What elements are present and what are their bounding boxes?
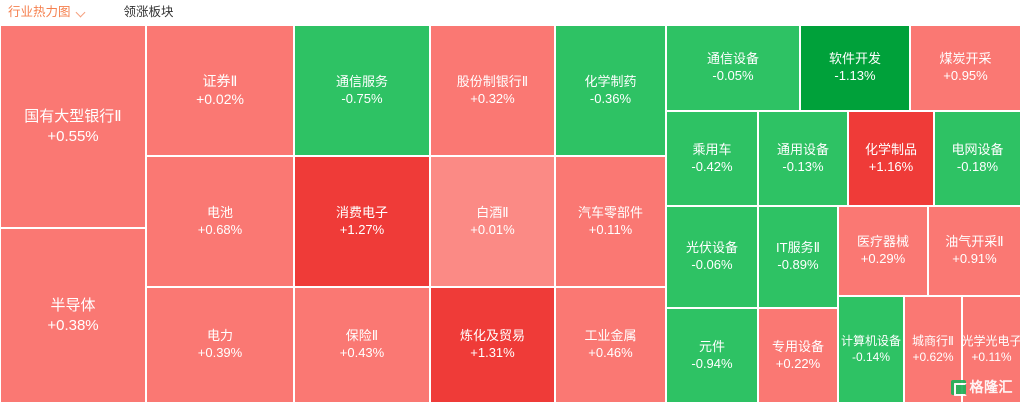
treemap-cell-name: 保险Ⅱ <box>346 328 378 345</box>
treemap-cell-name: 股份制银行Ⅱ <box>457 74 528 91</box>
treemap-cell-name: 煤炭开采 <box>939 51 991 68</box>
treemap-cell[interactable]: 电网设备-0.18% <box>934 111 1021 206</box>
industry-heatmap-widget: 行业热力图 领涨板块 国有大型银行Ⅱ+0.55%半导体+0.38%证券Ⅱ+0.0… <box>0 0 1021 403</box>
treemap-cell[interactable]: 化学制药-0.36% <box>555 25 666 156</box>
widget-header: 行业热力图 领涨板块 <box>0 0 1021 25</box>
treemap-cell[interactable]: 乘用车-0.42% <box>666 111 758 206</box>
treemap-cell-value: +0.39% <box>198 345 242 362</box>
treemap-cell[interactable]: 元件-0.94% <box>666 308 758 403</box>
treemap-cell[interactable]: 半导体+0.38% <box>0 228 146 403</box>
treemap-cell[interactable]: 医疗器械+0.29% <box>838 206 928 296</box>
treemap-cell[interactable]: 煤炭开采+0.95% <box>910 25 1021 111</box>
treemap-cell-name: 半导体 <box>50 296 95 315</box>
treemap-cell-value: -0.36% <box>590 91 631 108</box>
treemap-cell[interactable]: 工业金属+0.46% <box>555 287 666 403</box>
treemap-cell-value: +1.27% <box>340 222 384 239</box>
treemap-cell-name: 电网设备 <box>951 142 1003 159</box>
treemap-cell[interactable]: 光学光电子+0.11% <box>962 296 1021 403</box>
treemap-cell[interactable]: 电池+0.68% <box>146 156 294 287</box>
treemap-cell-value: -0.05% <box>712 68 753 85</box>
treemap-cell[interactable]: 城商行Ⅱ+0.62% <box>904 296 962 403</box>
treemap-cell-value: +0.38% <box>47 316 98 335</box>
treemap-cell-name: 消费电子 <box>336 205 388 222</box>
treemap-cell-name: 汽车零部件 <box>578 205 643 222</box>
treemap-cell[interactable]: 炼化及贸易+1.31% <box>430 287 555 403</box>
treemap-cell-value: +0.68% <box>198 222 242 239</box>
treemap-cell[interactable]: 消费电子+1.27% <box>294 156 430 287</box>
treemap-cell-name: IT服务Ⅱ <box>776 240 820 257</box>
treemap-cell-value: +0.11% <box>971 350 1011 365</box>
treemap-cell[interactable]: 油气开采Ⅱ+0.91% <box>928 206 1021 296</box>
treemap-cell-value: +0.22% <box>776 356 820 373</box>
treemap-cell-value: +0.55% <box>47 127 98 146</box>
treemap-cell-name: 医疗器械 <box>857 234 909 251</box>
treemap-cell-name: 乘用车 <box>692 142 731 159</box>
treemap-cell-value: +0.43% <box>340 345 384 362</box>
treemap-cell[interactable]: 国有大型银行Ⅱ+0.55% <box>0 25 146 228</box>
treemap-cell-value: +0.32% <box>470 91 514 108</box>
treemap-cell-value: +1.31% <box>470 345 514 362</box>
treemap-cell-name: 通用设备 <box>777 142 829 159</box>
treemap-cell-value: -0.06% <box>691 257 732 274</box>
treemap-cell-value: +0.02% <box>196 91 244 109</box>
treemap-cell[interactable]: 通信设备-0.05% <box>666 25 800 111</box>
tab-industry-heatmap[interactable]: 行业热力图 <box>8 6 86 19</box>
treemap-cell[interactable]: 股份制银行Ⅱ+0.32% <box>430 25 555 156</box>
treemap-cell-value: -0.75% <box>341 91 382 108</box>
treemap-cell-value: -0.14% <box>852 350 890 365</box>
treemap-cell[interactable]: 通用设备-0.13% <box>758 111 848 206</box>
treemap-cell-name: 通信服务 <box>336 74 388 91</box>
treemap-cell-value: -0.89% <box>777 257 818 274</box>
treemap-cell-name: 油气开采Ⅱ <box>945 234 1003 251</box>
treemap-cell[interactable]: 通信服务-0.75% <box>294 25 430 156</box>
treemap-cell[interactable]: IT服务Ⅱ-0.89% <box>758 206 838 308</box>
treemap-cell-value: +0.29% <box>861 251 905 268</box>
treemap-cell-name: 专用设备 <box>772 339 824 356</box>
tab-leading-sectors[interactable]: 领涨板块 <box>124 6 174 19</box>
treemap-cell-value: +0.95% <box>943 68 987 85</box>
treemap-cell-value: +0.11% <box>589 222 633 239</box>
treemap-cell-name: 电池 <box>207 205 233 222</box>
treemap-cell[interactable]: 汽车零部件+0.11% <box>555 156 666 287</box>
treemap-cell-value: -0.94% <box>691 356 732 373</box>
treemap-cell-value: -1.13% <box>834 68 875 85</box>
treemap-cell-name: 证券Ⅱ <box>203 73 238 91</box>
treemap-cell-name: 国有大型银行Ⅱ <box>24 107 121 126</box>
treemap-cell[interactable]: 光伏设备-0.06% <box>666 206 758 308</box>
treemap-cell-value: -0.13% <box>782 159 823 176</box>
treemap-cell[interactable]: 保险Ⅱ+0.43% <box>294 287 430 403</box>
treemap-cell-value: +0.62% <box>912 350 953 365</box>
treemap-cell[interactable]: 证券Ⅱ+0.02% <box>146 25 294 156</box>
treemap-cell-name: 化学制药 <box>584 74 636 91</box>
treemap-cell[interactable]: 软件开发-1.13% <box>800 25 910 111</box>
treemap-cell[interactable]: 电力+0.39% <box>146 287 294 403</box>
treemap-cell-value: +0.46% <box>588 345 632 362</box>
treemap-cell-value: -0.42% <box>691 159 732 176</box>
treemap-cell-name: 白酒Ⅱ <box>476 205 508 222</box>
treemap-cell-value: +1.16% <box>869 159 913 176</box>
treemap-cell-name: 工业金属 <box>584 328 636 345</box>
treemap-cell-name: 炼化及贸易 <box>460 328 525 345</box>
treemap-cell-name: 城商行Ⅱ <box>912 334 954 349</box>
treemap-cell-name: 软件开发 <box>829 51 881 68</box>
treemap-cell-name: 计算机设备 <box>841 334 901 349</box>
treemap-cell[interactable]: 专用设备+0.22% <box>758 308 838 403</box>
treemap-cell-name: 电力 <box>207 328 233 345</box>
treemap-cell[interactable]: 白酒Ⅱ+0.01% <box>430 156 555 287</box>
chevron-down-icon[interactable] <box>77 8 86 17</box>
treemap-cell-value: -0.18% <box>957 159 998 176</box>
treemap-cell[interactable]: 计算机设备-0.14% <box>838 296 904 403</box>
treemap-cell[interactable]: 化学制品+1.16% <box>848 111 934 206</box>
treemap-cell-name: 光学光电子 <box>962 334 1021 349</box>
tab-industry-heatmap-label: 行业热力图 <box>8 6 71 19</box>
treemap-cell-value: +0.01% <box>470 222 514 239</box>
treemap-canvas: 国有大型银行Ⅱ+0.55%半导体+0.38%证券Ⅱ+0.02%电池+0.68%电… <box>0 25 1021 403</box>
treemap-cell-name: 化学制品 <box>865 142 917 159</box>
treemap-cell-name: 光伏设备 <box>686 240 738 257</box>
treemap-cell-name: 通信设备 <box>707 51 759 68</box>
treemap-cell-value: +0.91% <box>952 251 996 268</box>
tab-leading-sectors-label: 领涨板块 <box>124 6 174 19</box>
treemap-cell-name: 元件 <box>699 339 725 356</box>
